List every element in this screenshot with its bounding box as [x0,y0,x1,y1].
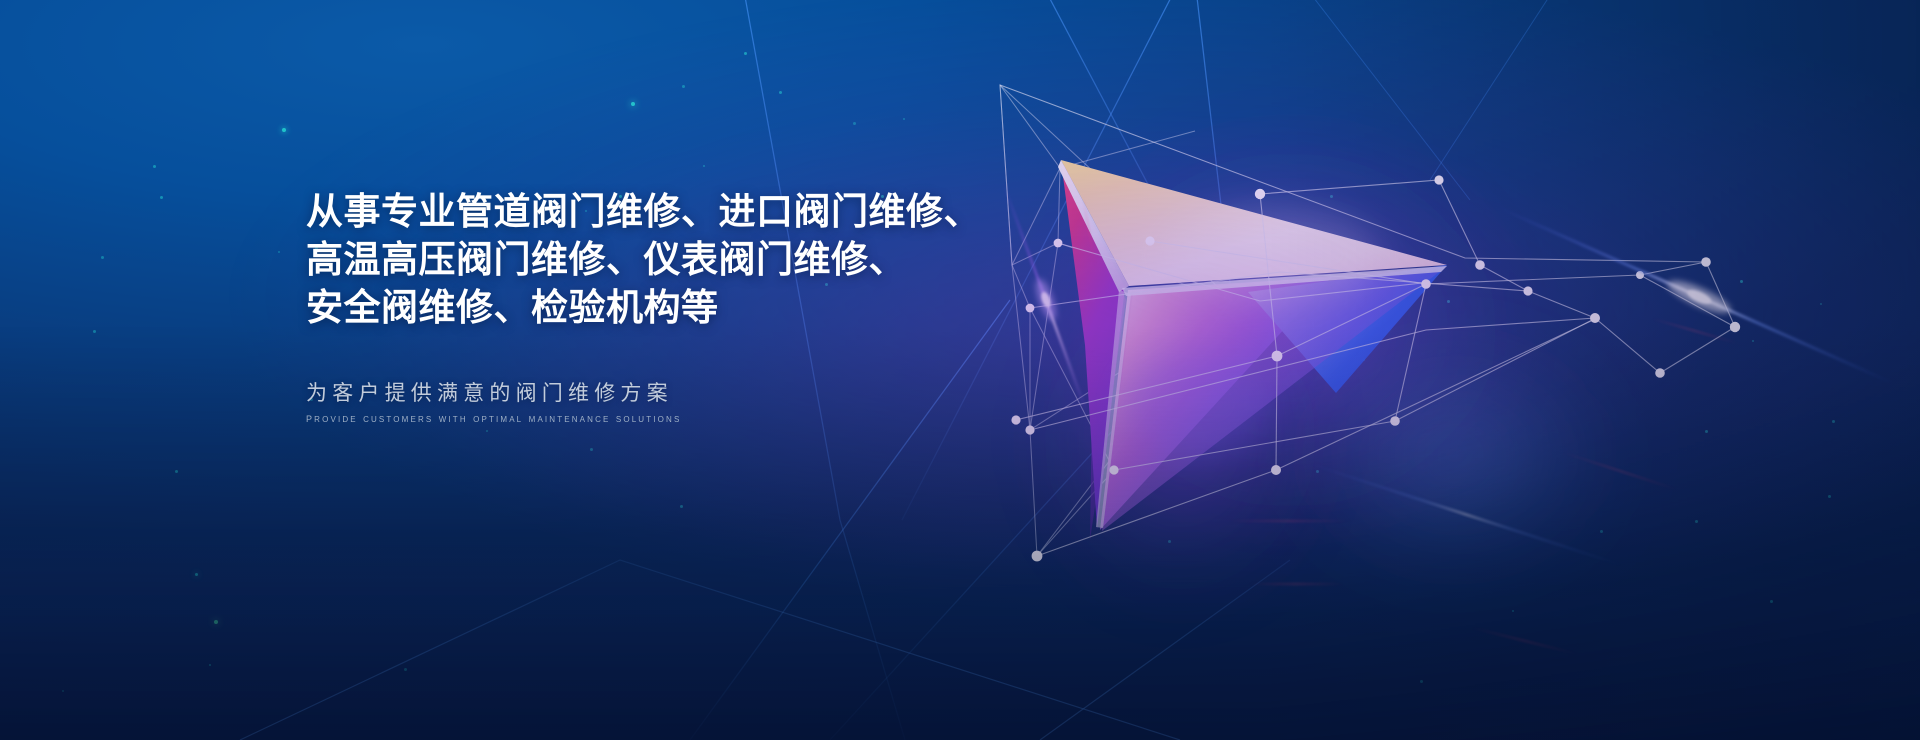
subtitle-chinese: 为客户提供满意的阀门维修方案 [306,380,1066,408]
network-node [1145,236,1154,245]
network-node [1390,416,1400,426]
subtitle-block: 为客户提供满意的阀门维修方案 Provide customers with op… [306,380,1066,426]
hero-banner: 从事专业管道阀门维修、进口阀门维修、 高温高压阀门维修、仪表阀门维修、 安全阀维… [0,0,1920,740]
network-node [1701,257,1711,267]
network-node [1434,175,1443,184]
network-node [1271,465,1281,475]
network-node [1590,313,1600,323]
network-node [1032,551,1043,562]
network-node [1523,286,1532,295]
subtitle-english: Provide customers with optimal maintenan… [306,411,1066,426]
hero-copy-block: 从事专业管道阀门维修、进口阀门维修、 高温高压阀门维修、仪表阀门维修、 安全阀维… [306,188,1066,426]
network-node [1025,425,1034,434]
network-node [1272,351,1283,362]
network-node [1109,465,1118,474]
headline-line-2: 高温高压阀门维修、仪表阀门维修、 [306,236,1066,284]
network-node [1421,279,1431,289]
network-node [1730,322,1740,332]
network-node [1255,189,1265,199]
network-node [1655,368,1665,378]
headline-line-3: 安全阀维修、检验机构等 [306,284,1066,332]
headline-line-1: 从事专业管道阀门维修、进口阀门维修、 [306,188,1066,236]
network-node [1475,260,1485,270]
page-title: 从事专业管道阀门维修、进口阀门维修、 高温高压阀门维修、仪表阀门维修、 安全阀维… [306,188,1066,332]
